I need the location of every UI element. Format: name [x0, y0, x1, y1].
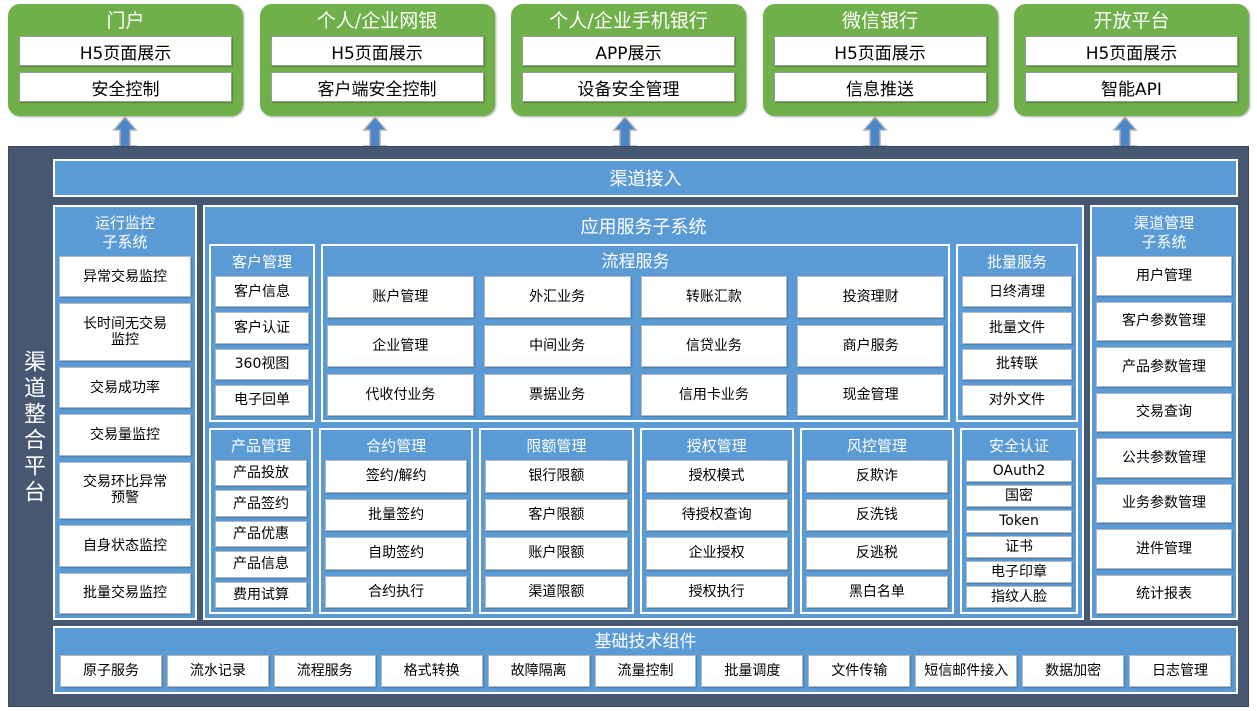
channel-item[interactable]: H5页面展示	[19, 36, 232, 66]
channel-item[interactable]: H5页面展示	[774, 36, 987, 66]
panel-title: 流程服务	[327, 250, 944, 276]
panel-title: 限额管理	[485, 434, 627, 460]
panel-title: 运行监控 子系统	[59, 211, 191, 256]
list-item[interactable]: 客户信息	[215, 276, 309, 307]
list-item[interactable]: 流程服务	[274, 655, 376, 687]
channel-item[interactable]: 设备安全管理	[522, 72, 735, 102]
channel-item[interactable]: 信息推送	[774, 72, 987, 102]
list-item[interactable]: Token	[966, 510, 1072, 532]
panel-title: 批量服务	[962, 250, 1072, 276]
channel-title: 门户	[106, 9, 144, 33]
panel-title: 产品管理	[215, 434, 307, 460]
panel-batch-service: 批量服务 日终清理 批量文件 批转联 对外文件	[956, 244, 1078, 422]
list-item[interactable]: 批量调度	[701, 655, 803, 687]
list-item[interactable]: 交易环比异常 预警	[59, 462, 191, 519]
appsvc-bottom-row: 产品管理 产品投放 产品签约 产品优惠 产品信息 费用试算 合约管理 签约/解约…	[209, 428, 1078, 614]
list-item[interactable]: 签约/解约	[325, 460, 467, 493]
panel-technical-components: 基础技术组件 原子服务 流水记录 流程服务 格式转换 故障隔离 流量控制 批量调…	[53, 626, 1238, 694]
list-item[interactable]: 渠道限额	[485, 576, 627, 609]
channel-access-bar[interactable]: 渠道接入	[53, 159, 1238, 197]
list-item[interactable]: 反逃税	[806, 537, 948, 570]
list-item[interactable]: 转账汇款	[641, 276, 788, 318]
list-item[interactable]: 指纹人脸	[966, 586, 1072, 608]
channel-item[interactable]: H5页面展示	[271, 36, 484, 66]
appsvc-top-row: 客户管理 客户信息 客户认证 360视图 电子回单 流程服务 账户管理 外汇业务…	[209, 244, 1078, 422]
panel-title: 基础技术组件	[60, 631, 1231, 653]
list-item[interactable]: 商户服务	[797, 325, 944, 367]
panel-title: 授权管理	[646, 434, 788, 460]
list-item[interactable]: 交易量监控	[59, 414, 191, 455]
list-item[interactable]: 国密	[966, 485, 1072, 507]
process-service-grid: 账户管理 外汇业务 转账汇款 投资理财 企业管理 中间业务 信贷业务 商户服务 …	[327, 276, 944, 416]
list-item[interactable]: 投资理财	[797, 276, 944, 318]
list-item[interactable]: 批量文件	[962, 312, 1072, 343]
panel-channel-management: 渠道管理 子系统 用户管理 客户参数管理 产品参数管理 交易查询 公共参数管理 …	[1090, 205, 1238, 620]
list-item[interactable]: 授权执行	[646, 576, 788, 609]
list-item[interactable]: 银行限额	[485, 460, 627, 493]
list-item[interactable]: 证书	[966, 536, 1072, 558]
list-item[interactable]: OAuth2	[966, 460, 1072, 482]
list-item[interactable]: 交易查询	[1096, 393, 1232, 433]
list-item[interactable]: 电子回单	[215, 385, 309, 416]
list-item[interactable]: 用户管理	[1096, 256, 1232, 296]
panel-title: 客户管理	[215, 250, 309, 276]
channel-item[interactable]: 客户端安全控制	[271, 72, 484, 102]
channel-box-wechat-banking[interactable]: 微信银行 H5页面展示 信息推送	[763, 4, 998, 116]
channel-item[interactable]: 智能API	[1025, 72, 1238, 102]
list-item[interactable]: 中间业务	[484, 325, 631, 367]
panel-risk-management: 风控管理 反欺诈 反洗钱 反逃税 黑白名单	[800, 428, 954, 614]
panel-process-service: 流程服务 账户管理 外汇业务 转账汇款 投资理财 企业管理 中间业务 信贷业务 …	[321, 244, 950, 422]
list-item[interactable]: 客户限额	[485, 499, 627, 532]
channel-title: 个人/企业网银	[317, 9, 437, 33]
channel-title: 个人/企业手机银行	[549, 9, 707, 33]
list-item[interactable]: 黑白名单	[806, 576, 948, 609]
panel-application-service: 应用服务子系统 客户管理 客户信息 客户认证 360视图 电子回单 流程服务 账…	[203, 205, 1084, 620]
list-item[interactable]: 长时间无交易 监控	[59, 303, 191, 360]
list-item[interactable]: 产品签约	[215, 490, 307, 516]
channel-box-open-platform[interactable]: 开放平台 H5页面展示 智能API	[1014, 4, 1249, 116]
list-item[interactable]: 产品信息	[215, 551, 307, 577]
channel-integration-platform: 渠道整合平台 渠道接入 运行监控 子系统 异常交易监控 长时间无交易 监控 交易…	[8, 146, 1249, 707]
list-item[interactable]: 票据业务	[484, 374, 631, 416]
list-item[interactable]: 代收付业务	[327, 374, 474, 416]
list-item[interactable]: 账户限额	[485, 537, 627, 570]
panel-product-management: 产品管理 产品投放 产品签约 产品优惠 产品信息 费用试算	[209, 428, 313, 614]
channel-item[interactable]: APP展示	[522, 36, 735, 66]
channel-title: 微信银行	[842, 9, 918, 33]
list-item[interactable]: 客户参数管理	[1096, 302, 1232, 342]
list-item[interactable]: 原子服务	[60, 655, 162, 687]
list-item[interactable]: 信贷业务	[641, 325, 788, 367]
list-item[interactable]: 现金管理	[797, 374, 944, 416]
list-item[interactable]: 反洗钱	[806, 499, 948, 532]
list-item[interactable]: 批转联	[962, 349, 1072, 380]
list-item[interactable]: 交易成功率	[59, 367, 191, 408]
list-item[interactable]: 客户认证	[215, 312, 309, 343]
list-item[interactable]: 业务参数管理	[1096, 484, 1232, 524]
channel-item[interactable]: H5页面展示	[1025, 36, 1238, 66]
channel-box-mobile-banking[interactable]: 个人/企业手机银行 APP展示 设备安全管理	[511, 4, 746, 116]
list-item[interactable]: 合约执行	[325, 576, 467, 609]
list-item[interactable]: 产品参数管理	[1096, 347, 1232, 387]
list-item[interactable]: 授权模式	[646, 460, 788, 493]
list-item[interactable]: 故障隔离	[488, 655, 590, 687]
panel-authorization-management: 授权管理 授权模式 待授权查询 企业授权 授权执行	[640, 428, 794, 614]
list-item[interactable]: 进件管理	[1096, 529, 1232, 569]
list-item[interactable]: 公共参数管理	[1096, 438, 1232, 478]
list-item[interactable]: 产品投放	[215, 460, 307, 486]
list-item[interactable]: 待授权查询	[646, 499, 788, 532]
list-item[interactable]: 日终清理	[962, 276, 1072, 307]
platform-vertical-label: 渠道整合平台	[13, 193, 51, 663]
list-item[interactable]: 异常交易监控	[59, 256, 191, 297]
list-item[interactable]: 外汇业务	[484, 276, 631, 318]
list-item[interactable]: 数据加密	[1022, 655, 1124, 687]
list-item[interactable]: 账户管理	[327, 276, 474, 318]
list-item[interactable]: 批量签约	[325, 499, 467, 532]
list-item[interactable]: 流水记录	[167, 655, 269, 687]
list-item[interactable]: 短信邮件接入	[915, 655, 1017, 687]
channel-item[interactable]: 安全控制	[19, 72, 232, 102]
list-item[interactable]: 企业管理	[327, 325, 474, 367]
channel-title: 开放平台	[1093, 9, 1169, 33]
list-item[interactable]: 费用试算	[215, 582, 307, 608]
list-item[interactable]: 反欺诈	[806, 460, 948, 493]
panel-title: 安全认证	[966, 434, 1072, 460]
list-item[interactable]: 格式转换	[381, 655, 483, 687]
list-item[interactable]: 电子印章	[966, 561, 1072, 583]
tech-components-list: 原子服务 流水记录 流程服务 格式转换 故障隔离 流量控制 批量调度 文件传输 …	[60, 655, 1231, 687]
panel-title: 合约管理	[325, 434, 467, 460]
list-item[interactable]: 对外文件	[962, 385, 1072, 416]
panel-title: 渠道管理 子系统	[1096, 211, 1232, 256]
panel-title: 应用服务子系统	[209, 211, 1078, 244]
channel-box-portal[interactable]: 门户 H5页面展示 安全控制	[8, 4, 243, 116]
panel-limit-management: 限额管理 银行限额 客户限额 账户限额 渠道限额	[479, 428, 633, 614]
channel-row: 门户 H5页面展示 安全控制 个人/企业网银 H5页面展示 客户端安全控制 个人…	[8, 4, 1249, 116]
panel-operation-monitoring: 运行监控 子系统 异常交易监控 长时间无交易 监控 交易成功率 交易量监控 交易…	[53, 205, 197, 620]
panel-security-authentication: 安全认证 OAuth2 国密 Token 证书 电子印章 指纹人脸	[960, 428, 1078, 614]
channel-box-internet-banking[interactable]: 个人/企业网银 H5页面展示 客户端安全控制	[260, 4, 495, 116]
panel-contract-management: 合约管理 签约/解约 批量签约 自助签约 合约执行	[319, 428, 473, 614]
panel-title: 风控管理	[806, 434, 948, 460]
list-item[interactable]: 文件传输	[808, 655, 910, 687]
list-item[interactable]: 信用卡业务	[641, 374, 788, 416]
list-item[interactable]: 产品优惠	[215, 521, 307, 547]
list-item[interactable]: 企业授权	[646, 537, 788, 570]
panel-customer-management: 客户管理 客户信息 客户认证 360视图 电子回单	[209, 244, 315, 422]
architecture-diagram: 门户 H5页面展示 安全控制 个人/企业网银 H5页面展示 客户端安全控制 个人…	[0, 0, 1257, 711]
list-item[interactable]: 流量控制	[595, 655, 697, 687]
list-item[interactable]: 日志管理	[1129, 655, 1231, 687]
list-item[interactable]: 统计报表	[1096, 575, 1232, 615]
platform-body: 运行监控 子系统 异常交易监控 长时间无交易 监控 交易成功率 交易量监控 交易…	[53, 205, 1238, 620]
list-item[interactable]: 360视图	[215, 349, 309, 380]
list-item[interactable]: 批量交易监控	[59, 573, 191, 614]
list-item[interactable]: 自助签约	[325, 537, 467, 570]
list-item[interactable]: 自身状态监控	[59, 525, 191, 566]
